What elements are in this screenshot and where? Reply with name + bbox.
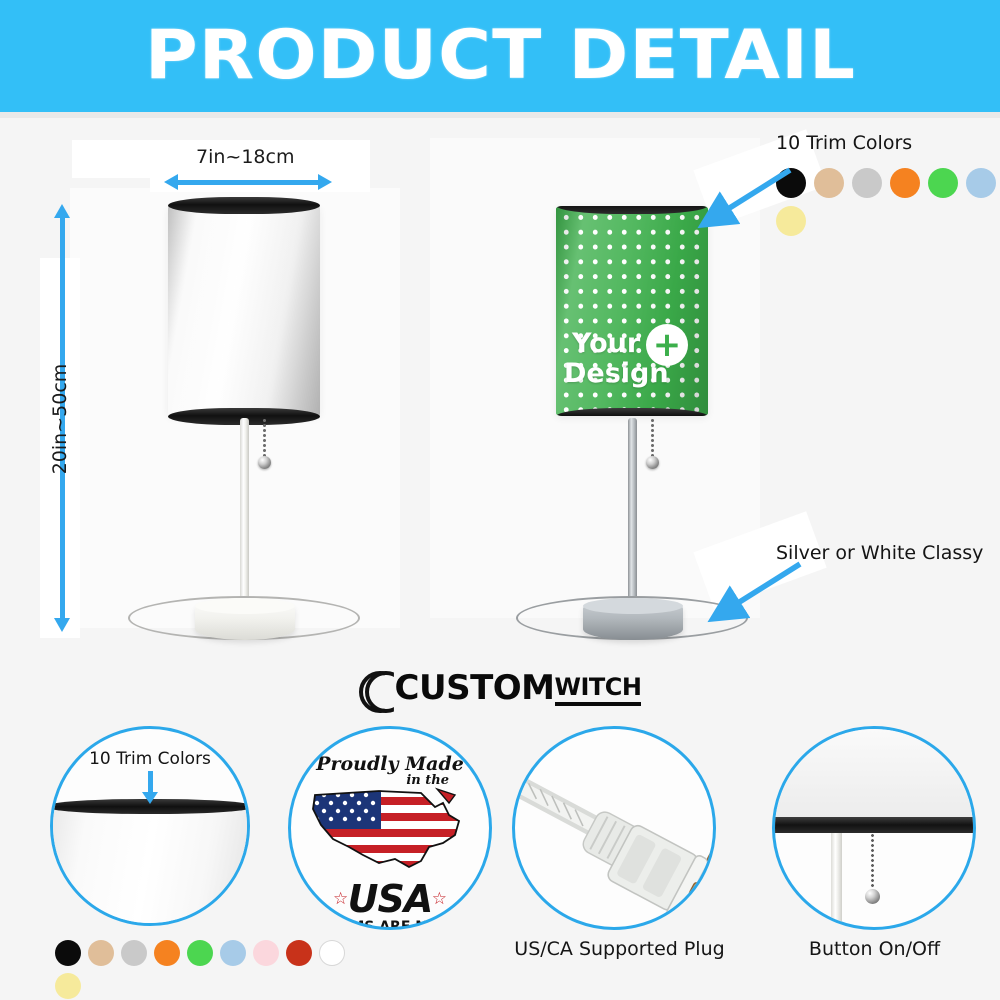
swatch-light-blue[interactable] — [220, 940, 246, 966]
pull-chain-closeup[interactable] — [871, 833, 874, 891]
logo-custom-text: CUSTOM — [395, 668, 555, 708]
swatch-gray[interactable] — [852, 168, 882, 198]
shade-gloss — [168, 206, 320, 416]
feature-trim-colors-circle: 10 Trim Colors — [50, 726, 250, 926]
swatch-red[interactable] — [286, 940, 312, 966]
lamp-pole-white — [240, 418, 249, 618]
page-title: PRODUCT DETAIL — [144, 22, 855, 90]
logo-underline — [555, 702, 642, 706]
lamp-shade-green: Your Design + — [556, 206, 708, 416]
feature-switch: Button On/Off — [772, 726, 987, 926]
swatch-light-blue[interactable] — [966, 168, 996, 198]
logo-witch-text: WITCH — [555, 675, 642, 699]
pull-chain-ball-closeup[interactable] — [865, 889, 880, 904]
lamp-base-silver — [583, 598, 683, 640]
pull-chain[interactable] — [651, 418, 654, 460]
feature-switch-circle — [772, 726, 976, 930]
feature-made-in-usa-circle: Proudly Made in the — [288, 726, 492, 930]
feature-trim-colors: 10 Trim Colors — [50, 726, 265, 926]
base-finish-callout-arrow-icon — [700, 558, 810, 628]
page-header: PRODUCT DETAIL — [0, 0, 1000, 112]
trim-colors-title: 10 Trim Colors — [776, 132, 1000, 154]
usa-badge-subtext: ALL ITEMS ARE MADE TO ORDER! — [291, 919, 489, 930]
shade-trim-top — [168, 197, 320, 214]
usa-star-right-icon: ☆ — [432, 889, 447, 909]
feature-trim-colors-inner-title: 10 Trim Colors — [53, 749, 247, 769]
lamp-base-top — [583, 598, 683, 614]
height-dimension-label: 20in~50cm — [49, 339, 71, 499]
swatch-pink[interactable] — [253, 940, 279, 966]
swatch-green[interactable] — [928, 168, 958, 198]
width-dimension-label: 7in~18cm — [196, 146, 294, 168]
pull-chain-ball[interactable] — [646, 456, 659, 469]
brand-logo: CUSTOM WITCH — [0, 660, 1000, 716]
pull-chain[interactable] — [263, 418, 266, 460]
height-dimension-label-wrap: 20in~50cm — [49, 339, 71, 499]
feature-plug-circle — [512, 726, 716, 930]
add-design-plus-icon[interactable]: + — [646, 324, 688, 366]
shade-closeup — [772, 726, 976, 819]
lamp-shade-white — [168, 206, 320, 416]
lamp-pole-closeup — [831, 833, 842, 930]
main-stage: 7in~18cm 20in~50cm — [0, 118, 1000, 658]
swatch-orange[interactable] — [154, 940, 180, 966]
swatch-orange[interactable] — [890, 168, 920, 198]
feature-trim-colors-arrow-icon — [148, 771, 153, 793]
bottom-swatch-row-1 — [55, 940, 345, 966]
swatch-white[interactable] — [319, 940, 345, 966]
trim-color-swatch-row-1 — [776, 168, 1000, 198]
swatch-yellow[interactable] — [55, 973, 81, 999]
swatch-tan[interactable] — [814, 168, 844, 198]
feature-plug: US/CA Supported Plug — [512, 726, 727, 926]
power-plug-icon — [515, 729, 713, 927]
feature-plug-caption: US/CA Supported Plug — [502, 938, 737, 960]
trim-callout-arrow-icon — [690, 164, 800, 234]
width-dimension-arrow — [178, 180, 318, 185]
feature-made-in-usa: Proudly Made in the — [288, 726, 503, 926]
swatch-tan[interactable] — [88, 940, 114, 966]
usa-badge-big-text: USA — [291, 877, 489, 921]
shade-closeup — [50, 805, 250, 926]
shade-trim-closeup — [772, 817, 976, 833]
feature-switch-caption: Button On/Off — [762, 938, 987, 960]
product-detail-infographic: PRODUCT DETAIL 7in~18cm 20in~50cm — [0, 0, 1000, 1000]
lamp-base-top — [195, 598, 295, 614]
trim-colors-panel: 10 Trim Colors — [776, 132, 1000, 236]
logo-c-mark-icon — [359, 668, 399, 708]
bottom-swatch-row-2 — [55, 973, 345, 999]
your-design-text-line1: Your — [572, 328, 640, 359]
bottom-trim-swatches — [55, 940, 345, 999]
shade-trim-bottom — [556, 408, 708, 416]
lamp-pole-silver — [628, 418, 637, 618]
swatch-gray[interactable] — [121, 940, 147, 966]
swatch-green[interactable] — [187, 940, 213, 966]
pull-chain-ball[interactable] — [258, 456, 271, 469]
usa-flag-map-icon — [309, 781, 469, 877]
trim-color-swatch-row-2 — [776, 206, 1000, 236]
swatch-black[interactable] — [55, 940, 81, 966]
lamp-base-white — [195, 598, 295, 640]
usa-badge-line1: Proudly Made — [291, 753, 489, 775]
